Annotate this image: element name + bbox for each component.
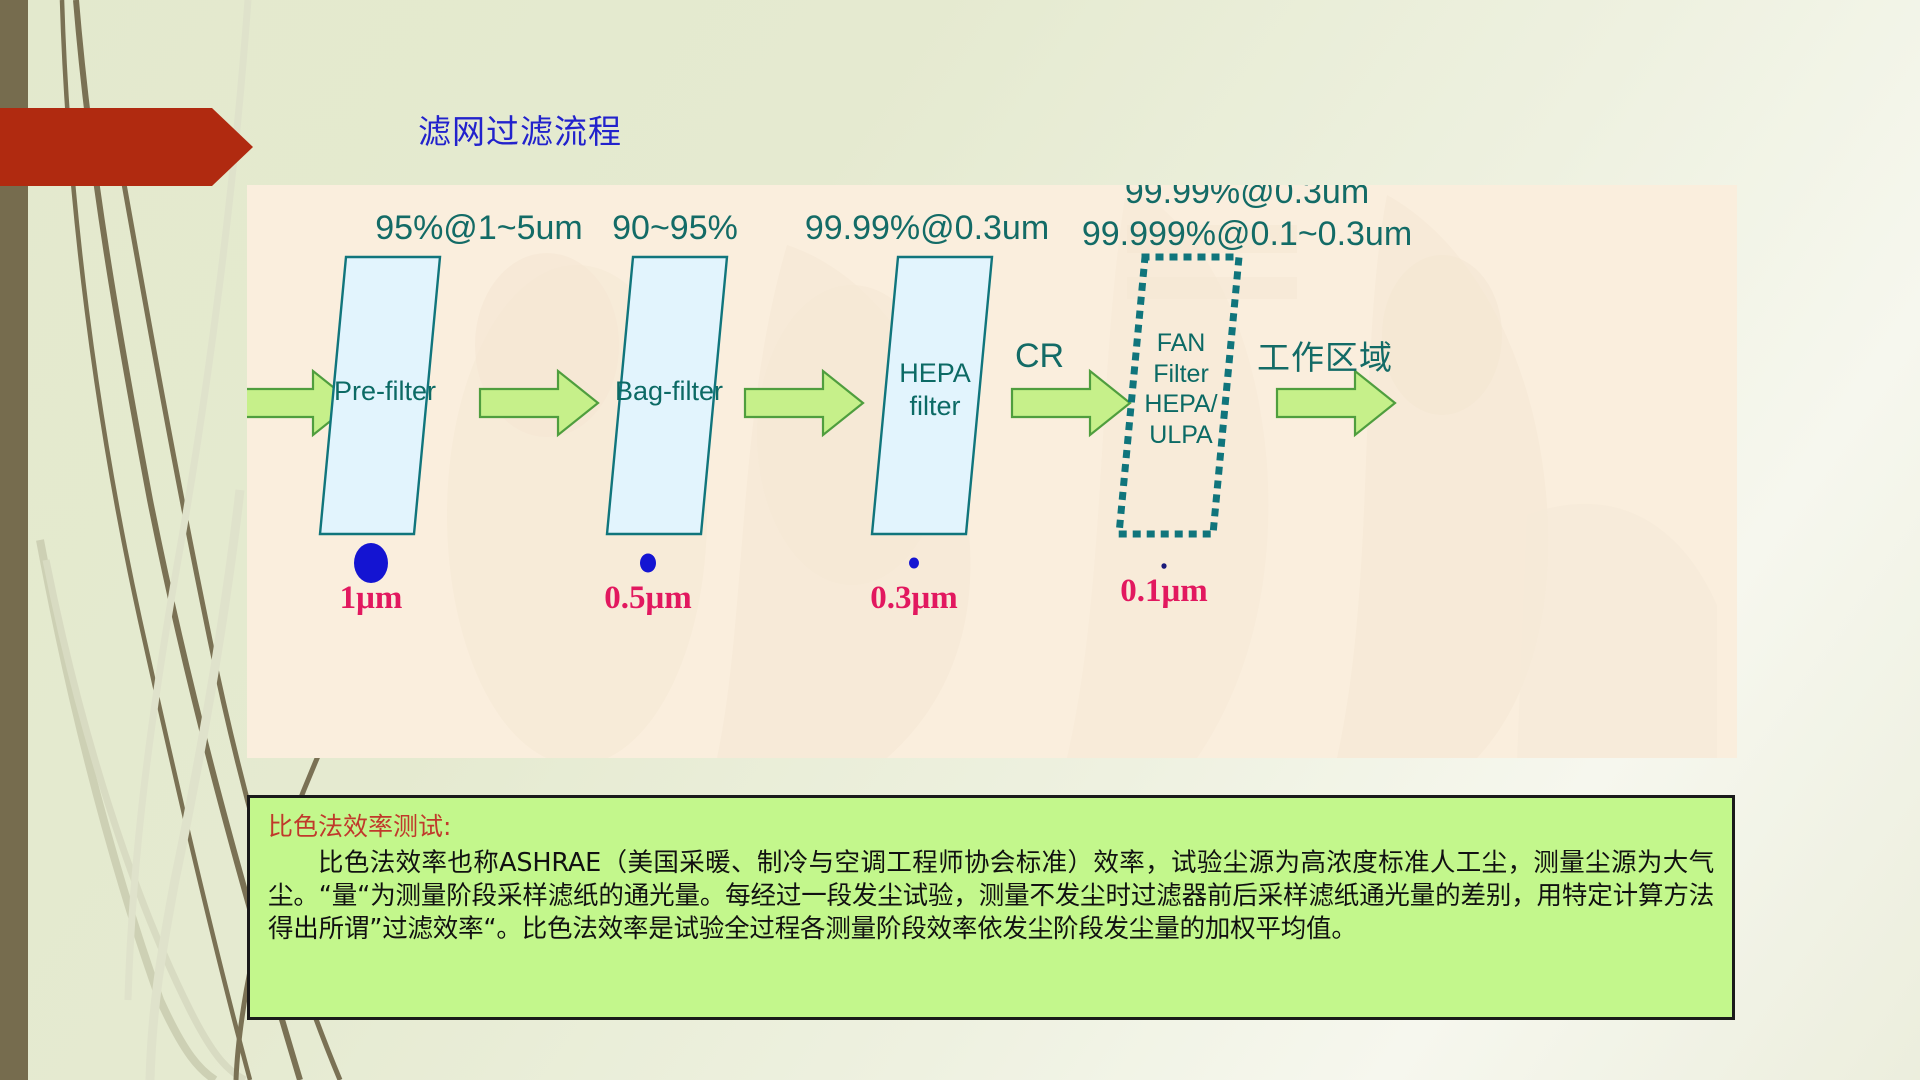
filter-label-line: HEPA — [825, 357, 1045, 390]
banner-arrow — [0, 108, 253, 186]
note-body: 比色法效率也称ASHRAE（美国采暖、制冷与空调工程师协会标准）效率，试验尘源为… — [268, 847, 1714, 946]
efficiency-label-fan-filter-top: 99.99%@0.3um — [947, 185, 1547, 212]
efficiency-label-fan-filter: 99.999%@0.1~0.3um — [887, 215, 1607, 254]
note-heading: 比色法效率测试: — [268, 812, 1714, 843]
flow-arrow-5 — [1277, 371, 1395, 435]
particle-dot-4 — [1161, 563, 1166, 569]
particle-size-label-2: 0.5μm — [548, 580, 748, 617]
particle-dot-2 — [640, 554, 656, 573]
filter-label-bag-filter: Bag-filter — [559, 375, 779, 408]
particle-dot-1 — [354, 543, 388, 583]
slide-canvas: 滤网过滤流程 — [0, 0, 1920, 1080]
particle-size-label-3: 0.3μm — [814, 580, 1014, 617]
note-box: 比色法效率测试: 比色法效率也称ASHRAE（美国采暖、制冷与空调工程师协会标准… — [247, 795, 1735, 1020]
particle-dot-3 — [909, 558, 919, 569]
particle-size-label-4: 0.1μm — [1064, 573, 1264, 610]
filter-label-line: Bag-filter — [559, 375, 779, 408]
filter-label-line: ULPA — [1071, 420, 1291, 451]
filter-label-line: Pre-filter — [275, 375, 495, 408]
diagram-panel: 95%@1~5um 90~95% 99.99%@0.3um 99.99%@0.3… — [247, 185, 1737, 758]
cr-label: CR — [1015, 337, 1064, 376]
filter-label-line: HEPA/ — [1071, 389, 1291, 420]
particle-size-label-1: 1μm — [271, 580, 471, 617]
page-title: 滤网过滤流程 — [418, 105, 622, 153]
filtration-flow-diagram — [247, 185, 1737, 758]
work-zone-label: 工作区域 — [1257, 331, 1393, 379]
filter-label-hepa-filter: HEPA filter — [825, 357, 1045, 423]
filter-label-pre-filter: Pre-filter — [275, 375, 495, 408]
filter-label-line: filter — [825, 390, 1045, 423]
